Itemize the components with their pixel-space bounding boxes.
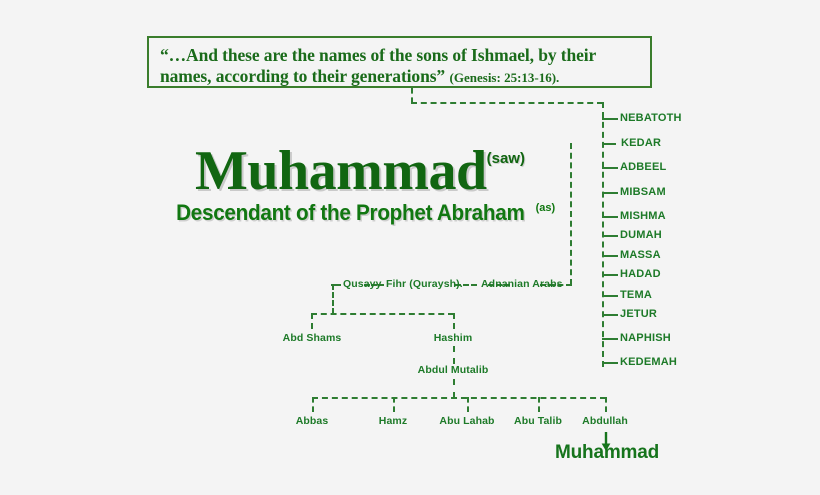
connector-sons-bracket	[312, 397, 606, 399]
son-connector-tick	[602, 167, 618, 169]
son-connector-tick	[602, 295, 618, 297]
quote-reference: (Genesis: 25:13-16).	[450, 70, 560, 85]
title-block: Muhammad(saw) Descendant of the Prophet …	[150, 143, 570, 226]
son-label-hadad: HADAD	[620, 268, 661, 280]
son-label-mishma: MISHMA	[620, 210, 666, 222]
title-superscript: (saw)	[487, 150, 525, 167]
lineage-son-hamz: Hamz	[379, 415, 407, 427]
son-drop-stub	[467, 397, 469, 412]
son-connector-tick	[602, 314, 618, 316]
lineage-adnanian-arabs: Adnanian Arabs	[481, 278, 563, 290]
son-drop-stub	[605, 397, 607, 412]
son-connector-tick	[602, 362, 618, 364]
lineage-qusayy: Qusayy	[343, 278, 382, 290]
son-label-kedemah: KEDEMAH	[620, 356, 677, 368]
son-connector-tick	[602, 216, 618, 218]
lineage-son-abu-talib: Abu Talib	[514, 415, 562, 427]
main-title-line: Muhammad(saw)	[150, 143, 570, 199]
son-label-dumah: DUMAH	[620, 229, 662, 241]
lineage-fihr-quraysh: Fihr (Quraysh).	[386, 278, 463, 290]
son-connector-tick	[602, 192, 618, 194]
scripture-quote-box: “…And these are the names of the sons of…	[147, 36, 652, 88]
lineage-son-abdullah: Abdullah	[582, 415, 628, 427]
connector-qusayy-drop	[332, 284, 334, 314]
son-drop-stub	[393, 397, 395, 412]
connector-quote-drop	[411, 88, 413, 103]
son-drop-stub	[538, 397, 540, 412]
final-muhammad-label: Muhammad	[555, 442, 659, 464]
connector-hashim-drop	[453, 313, 455, 329]
connector-hashim-to-abdul-mutalib	[453, 346, 455, 364]
subtitle: Descendant of the Prophet Abraham	[176, 200, 524, 226]
son-label-tema: TEMA	[620, 289, 652, 301]
lineage-abd-shams: Abd Shams	[283, 332, 342, 344]
lineage-son-abu-lahab: Abu Lahab	[439, 415, 494, 427]
connector-qusayy-bracket	[311, 313, 454, 315]
son-label-naphish: NAPHISH	[620, 332, 671, 344]
son-connector-tick	[602, 338, 618, 340]
subtitle-superscript: (as)	[536, 202, 556, 214]
lineage-abdul-mutalib: Abdul Mutalib	[418, 364, 489, 376]
subtitle-line: Descendant of the Prophet Abraham(as)	[150, 200, 570, 226]
son-label-nebatoth: NEBATOTH	[620, 112, 682, 124]
son-label-jetur: JETUR	[620, 308, 657, 320]
son-label-kedar: KEDAR	[621, 137, 661, 149]
son-label-massa: MASSA	[620, 249, 661, 261]
lineage-hashim: Hashim	[434, 332, 473, 344]
son-label-adbeel: ADBEEL	[620, 161, 666, 173]
connector-abdul-mutalib-drop	[453, 379, 455, 398]
page-title: Muhammad	[195, 143, 487, 199]
lineage-son-abbas: Abbas	[296, 415, 329, 427]
son-label-mibsam: MIBSAM	[620, 186, 666, 198]
connector-abd-shams-drop	[311, 313, 313, 329]
son-drop-stub	[312, 397, 314, 412]
connector-kedar-to-adnanian	[570, 143, 572, 285]
connector-quote-to-column	[411, 102, 603, 104]
son-connector-tick	[602, 235, 618, 237]
son-connector-tick	[602, 274, 618, 276]
son-connector-tick	[602, 143, 616, 145]
son-connector-tick	[602, 255, 618, 257]
son-connector-tick	[602, 118, 618, 120]
genealogy-diagram: “…And these are the names of the sons of…	[0, 0, 820, 495]
